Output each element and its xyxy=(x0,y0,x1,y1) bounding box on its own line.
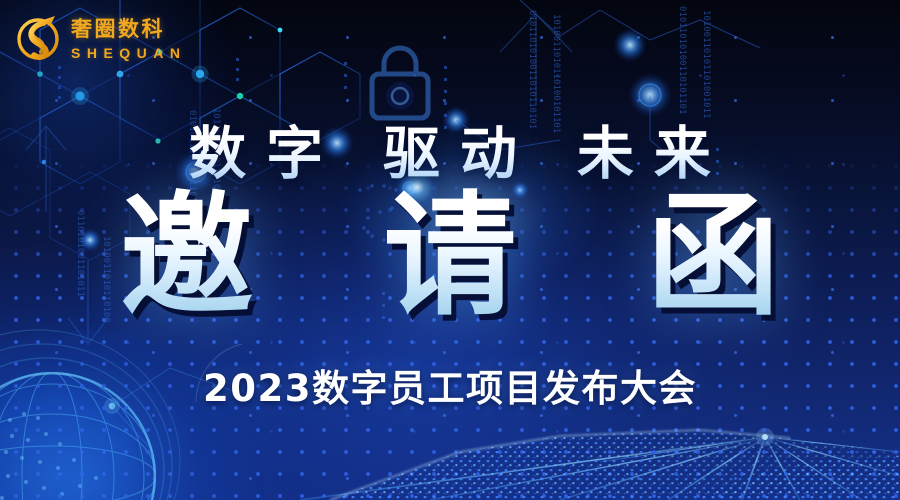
event-subtitle: 2023数字员工项目发布大会 xyxy=(0,358,900,412)
tagline: 数字 驱动 未来 xyxy=(0,108,900,190)
invitation-poster: 01010110101001101 10110100101101010 0101… xyxy=(0,0,900,500)
brand-name-cn: 奢圈数科 xyxy=(71,19,187,40)
brand-logo[interactable]: 奢圈数科 SHEQUAN xyxy=(14,12,187,64)
brand-name-en: SHEQUAN xyxy=(71,46,187,60)
page-title: 邀 请 函 xyxy=(0,186,900,330)
shequan-emblem-icon xyxy=(14,12,62,64)
